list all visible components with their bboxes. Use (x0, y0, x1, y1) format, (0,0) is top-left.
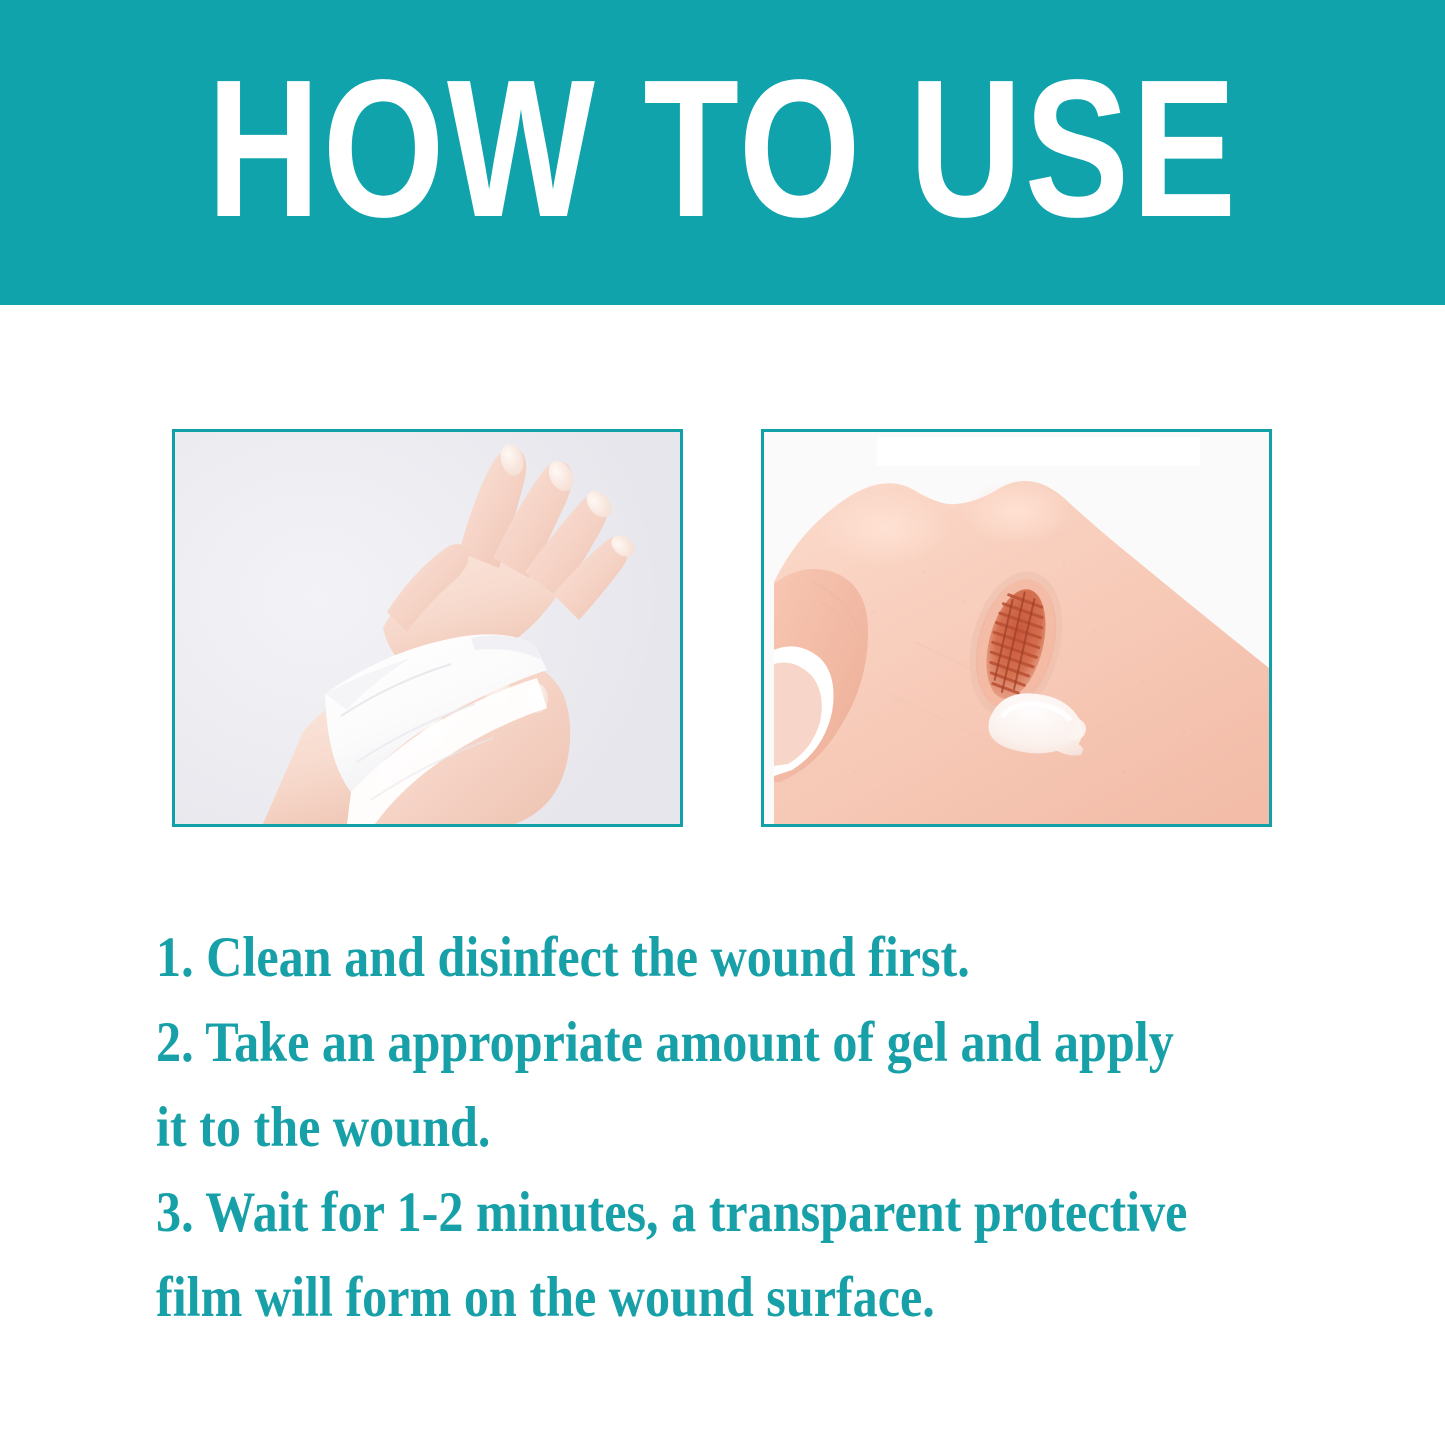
instruction-line-4: 3. Wait for 1-2 minutes, a transparent p… (156, 1170, 1186, 1255)
instructions-list: 1. Clean and disinfect the wound first. … (156, 915, 1326, 1340)
instruction-line-3: it to the wound. (156, 1085, 1186, 1170)
how-to-use-infographic: HOW TO USE (0, 0, 1445, 1445)
applying-gel-photo (764, 432, 1269, 824)
instruction-line-1: 1. Clean and disinfect the wound first. (156, 915, 1186, 1000)
hands-with-wipe-illustration (175, 432, 680, 824)
photo-frame-clean-wound (172, 429, 683, 827)
photo-frame-apply-gel (761, 429, 1272, 827)
cleaning-wound-photo (175, 432, 680, 824)
photo-panel-row (172, 429, 1274, 827)
instruction-line-2: 2. Take an appropriate amount of gel and… (156, 1000, 1186, 1085)
page-title: HOW TO USE (207, 65, 1239, 234)
instruction-line-5: film will form on the wound surface. (156, 1255, 1186, 1340)
hand-with-wound-and-gel-illustration (764, 432, 1269, 824)
header-banner: HOW TO USE (0, 0, 1445, 305)
